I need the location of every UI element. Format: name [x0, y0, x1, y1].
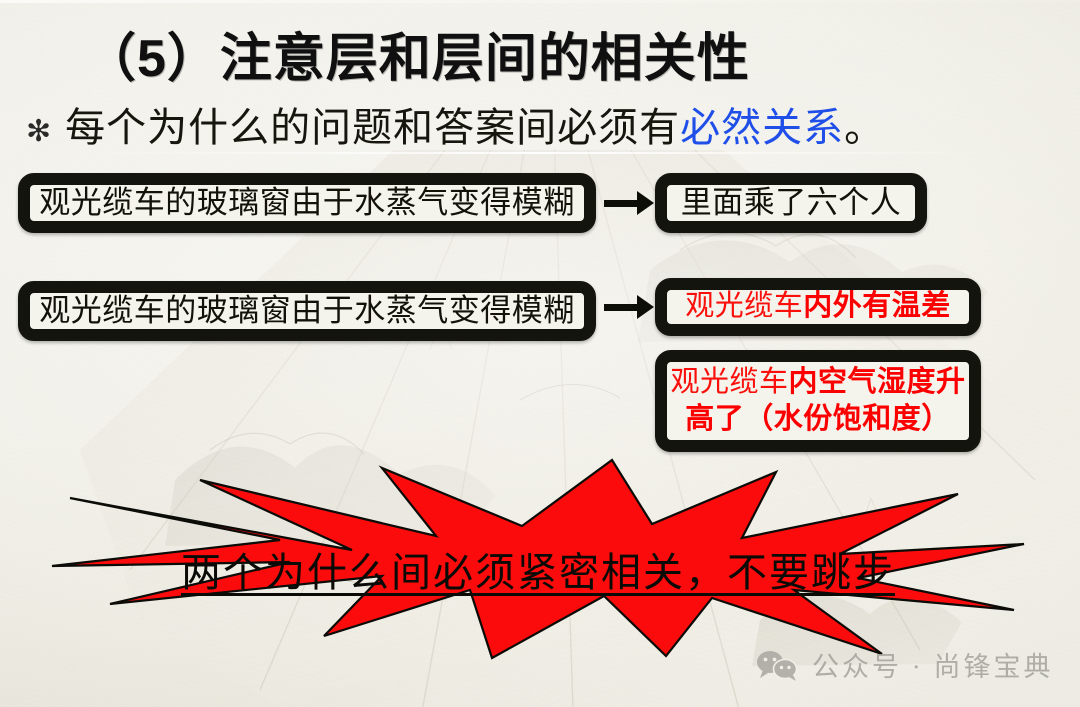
- subtitle-row: ✻ 每个为什么的问题和答案间必须有必然关系。: [26, 95, 885, 153]
- effect-box-row1-inner: 里面乘了六个人: [660, 178, 922, 228]
- header-divider: [78, 152, 1002, 154]
- arrow-head: [637, 191, 654, 215]
- arrow-shaft: [604, 304, 638, 311]
- starburst-callout-shape: [52, 458, 1024, 658]
- effect-box-row2-temperature-inner: 观光缆车内外有温差: [660, 283, 976, 331]
- background-top-highlight: [0, 0, 1080, 3]
- effect-box-row2-humidity-inner: 观光缆车内空气湿度升高了（水份饱和度）: [660, 355, 976, 447]
- cause-box-row2[interactable]: 观光缆车的玻璃窗由于水蒸气变得模糊: [18, 281, 596, 341]
- cause-box-row1[interactable]: 观光缆车的玻璃窗由于水蒸气变得模糊: [18, 173, 596, 233]
- subtitle-text: 每个为什么的问题和答案间必须有必然关系。: [65, 95, 885, 153]
- effect-box-row1-text: 里面乘了六个人: [681, 185, 902, 221]
- subtitle-suffix: 。: [844, 105, 885, 150]
- right-arrow-icon-row2: [604, 294, 654, 320]
- starburst-polygon: [52, 460, 1024, 658]
- page-title: （5）注意层和层间的相关性: [84, 16, 750, 91]
- wechat-icon: [756, 649, 798, 681]
- cause-box-row1-inner: 观光缆车的玻璃窗由于水蒸气变得模糊: [23, 178, 591, 228]
- slide-canvas: （5）注意层和层间的相关性 ✻ 每个为什么的问题和答案间必须有必然关系。 观光缆…: [0, 0, 1080, 707]
- cause-box-row1-text: 观光缆车的玻璃窗由于水蒸气变得模糊: [39, 185, 575, 221]
- arrow-head: [637, 295, 654, 319]
- effect-box-row1[interactable]: 里面乘了六个人: [655, 173, 927, 233]
- effect-lead-subject: 观光缆车: [685, 290, 803, 322]
- right-arrow-icon-row1: [604, 190, 654, 216]
- watermark: 公众号 · 尚锋宝典: [756, 645, 1054, 684]
- effect-box-row2-humidity-text: 观光缆车内空气湿度升高了（水份饱和度）: [667, 364, 969, 438]
- effect-box-row2-temperature[interactable]: 观光缆车内外有温差: [655, 278, 981, 336]
- effect-box-row2-humidity[interactable]: 观光缆车内空气湿度升高了（水份饱和度）: [655, 350, 981, 452]
- cause-box-row2-text: 观光缆车的玻璃窗由于水蒸气变得模糊: [39, 293, 575, 329]
- arrow-shaft: [604, 200, 638, 207]
- cause-box-row2-inner: 观光缆车的玻璃窗由于水蒸气变得模糊: [23, 286, 591, 336]
- effect-box-row2-temperature-text: 观光缆车内外有温差: [685, 290, 951, 323]
- asterisk-bullet-icon: ✻: [26, 117, 51, 147]
- effect-lead-subject: 观光缆车: [670, 366, 788, 398]
- subtitle-prefix: 每个为什么的问题和答案间必须有: [65, 105, 680, 150]
- effect-rest-text: 内外有温差: [803, 290, 951, 322]
- subtitle-highlight: 必然关系: [680, 105, 844, 150]
- watermark-text: 公众号 · 尚锋宝典: [812, 645, 1054, 684]
